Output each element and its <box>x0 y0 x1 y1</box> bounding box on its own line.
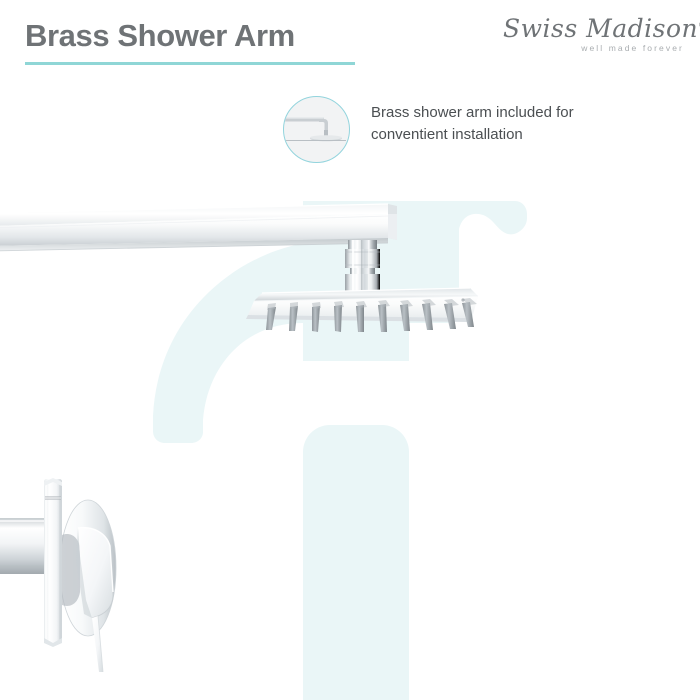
shower-valve-trim-with-lever-handle <box>0 478 116 672</box>
page-title: Brass Shower Arm <box>25 18 295 54</box>
swivel-ball-joint <box>343 240 382 298</box>
square-rain-shower-head <box>246 288 478 332</box>
square-shower-arm <box>0 204 397 251</box>
brand-wordmark-text: Swiss Madison <box>503 14 698 43</box>
product-marketing-image: Brass Shower Arm Swiss Madison® well mad… <box>0 0 700 700</box>
feature-text-line-2: conventient installation <box>371 124 636 146</box>
brand-tagline: well made forever <box>503 43 684 53</box>
header: Brass Shower Arm Swiss Madison® well mad… <box>0 0 700 90</box>
shower-arm-icon <box>283 96 350 163</box>
feature-callout: Brass shower arm included for conventien… <box>283 96 643 166</box>
brand-wordmark: Swiss Madison® <box>503 16 688 41</box>
brand-logo: Swiss Madison® well made forever <box>503 16 688 64</box>
title-underline <box>25 62 355 65</box>
feature-text-line-1: Brass shower arm included for <box>371 102 636 124</box>
shower-nozzles <box>266 302 474 332</box>
feature-text: Brass shower arm included for conventien… <box>371 102 636 146</box>
